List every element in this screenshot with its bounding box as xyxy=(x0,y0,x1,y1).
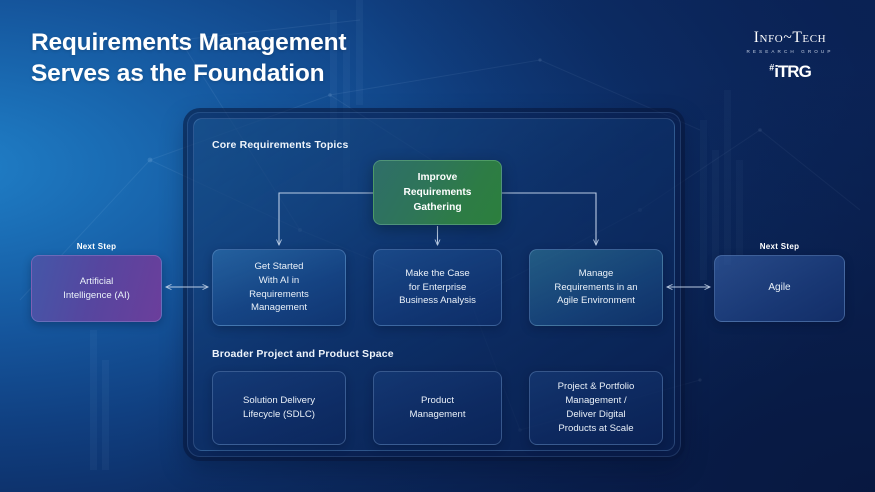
info-tech-logo: Info~Tech RESEARCH GROUP #iTRG xyxy=(729,30,851,80)
node-product-management[interactable]: Product Management xyxy=(373,371,502,445)
next-step-label-right: Next Step xyxy=(714,242,845,251)
node-solution-delivery-lifecycle[interactable]: Solution Delivery Lifecycle (SDLC) xyxy=(212,371,346,445)
next-step-label-left: Next Step xyxy=(31,242,162,251)
itrg-wordmark: iTRG xyxy=(774,62,811,81)
node-next-step-artificial-intelligence[interactable]: Artificial Intelligence (AI) xyxy=(31,255,162,322)
node-manage-requirements-agile[interactable]: Manage Requirements in an Agile Environm… xyxy=(529,249,663,326)
slide-canvas: Requirements Management Serves as the Fo… xyxy=(0,0,875,492)
node-make-the-case-eba[interactable]: Make the Case for Enterprise Business An… xyxy=(373,249,502,326)
section-label-broader: Broader Project and Product Space xyxy=(212,348,394,360)
page-title-line1: Requirements Management xyxy=(31,27,346,58)
node-improve-requirements-gathering[interactable]: Improve Requirements Gathering xyxy=(373,160,502,225)
page-title-line2: Serves as the Foundation xyxy=(31,58,346,89)
logo-tagline: RESEARCH GROUP xyxy=(729,49,851,54)
node-get-started-with-ai[interactable]: Get Started With AI in Requirements Mana… xyxy=(212,249,346,326)
node-project-portfolio-management[interactable]: Project & Portfolio Management / Deliver… xyxy=(529,371,663,445)
logo-wordmark: Info~Tech xyxy=(729,30,851,46)
itrg-logo: #iTRG xyxy=(729,63,851,80)
page-title: Requirements Management Serves as the Fo… xyxy=(31,27,346,90)
node-next-step-agile[interactable]: Agile xyxy=(714,255,845,322)
section-label-core: Core Requirements Topics xyxy=(212,139,348,151)
